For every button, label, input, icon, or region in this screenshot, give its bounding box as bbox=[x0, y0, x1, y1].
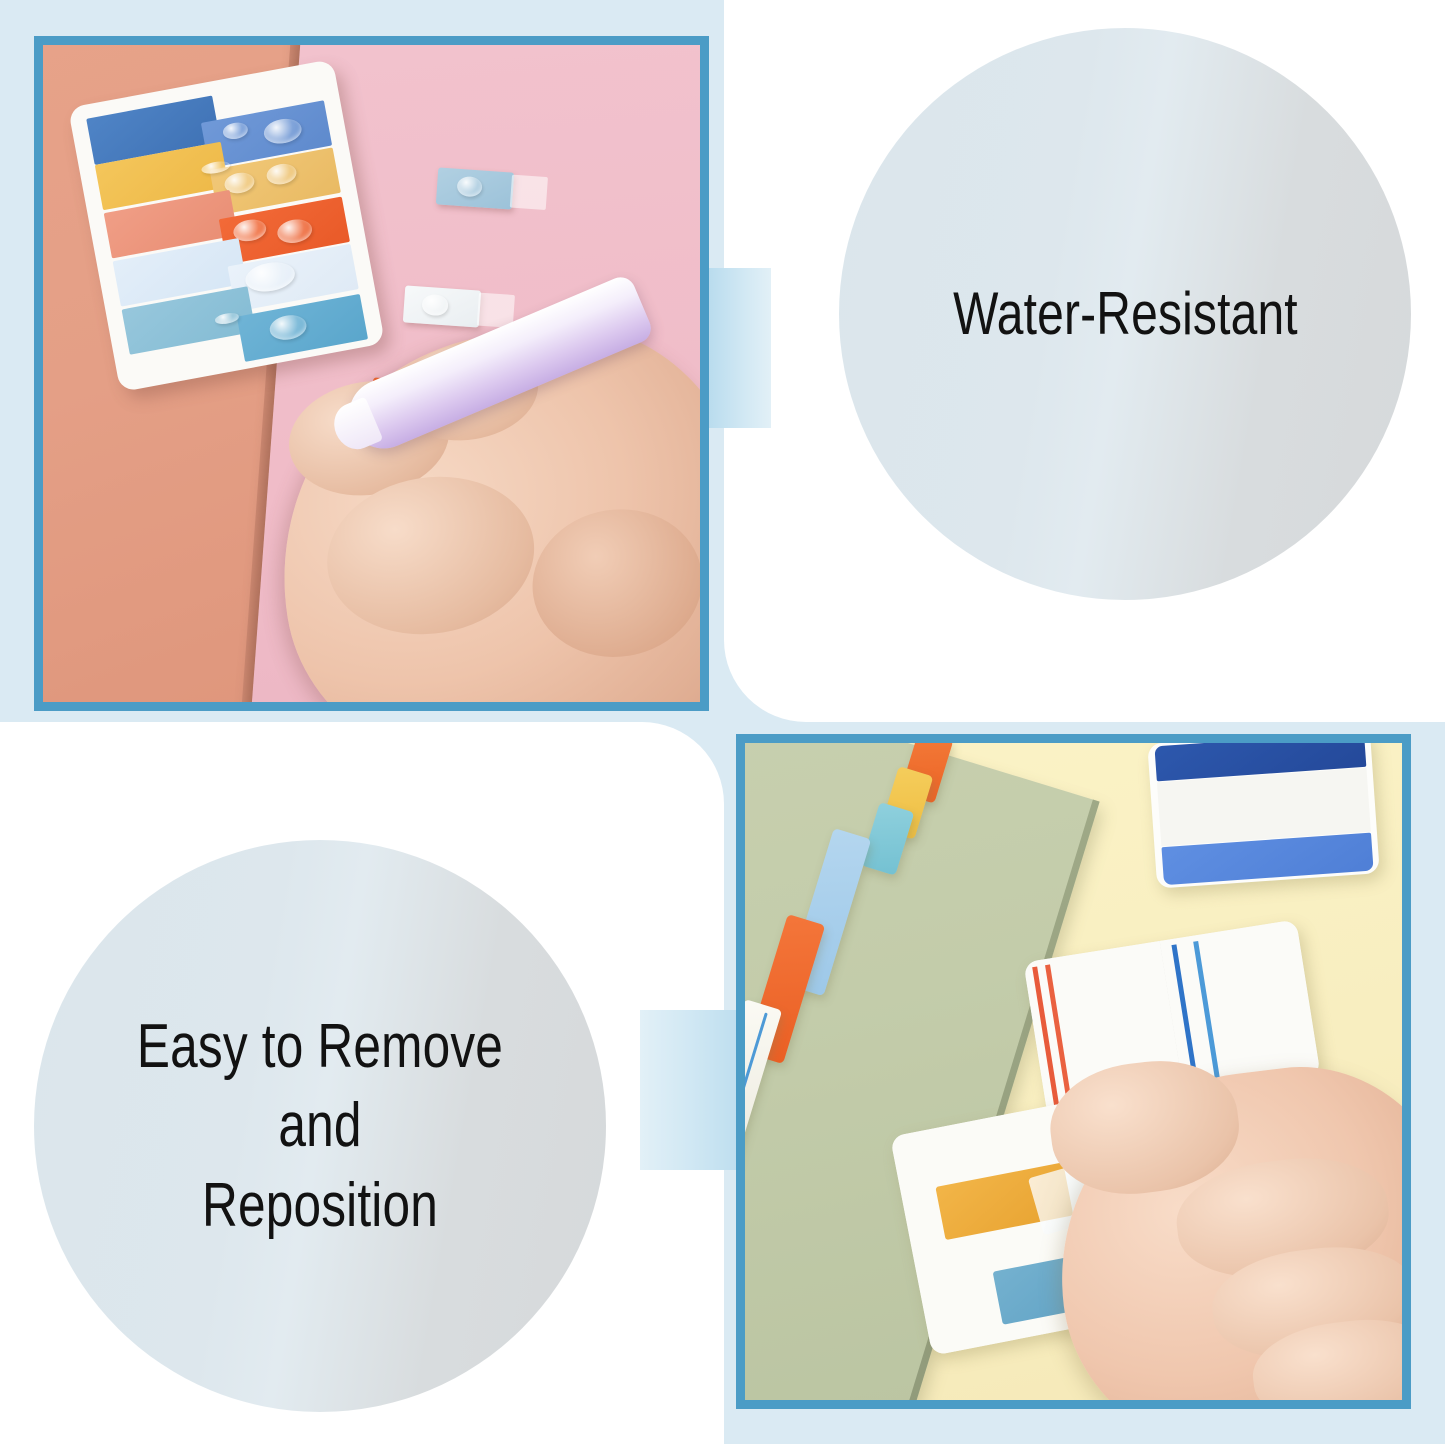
infographic-canvas: water proof Water-Resistant Easy to Remo… bbox=[0, 0, 1445, 1444]
photo-peeling-scene bbox=[745, 743, 1402, 1400]
photo-peeling-tab bbox=[736, 734, 1411, 1409]
tab-stripe bbox=[1045, 965, 1072, 1109]
tab-card-blue bbox=[1148, 734, 1381, 889]
tab-clear-tail bbox=[510, 175, 548, 210]
connector-tab-top bbox=[709, 268, 771, 428]
feature-label-water-resistant: Water-Resistant bbox=[948, 276, 1302, 353]
hand bbox=[1039, 1048, 1411, 1409]
knuckle bbox=[521, 497, 709, 669]
connector-tab-bottom bbox=[640, 1010, 750, 1170]
photo-writing-on-tab: water proof bbox=[34, 36, 709, 711]
feature-badge-easy-remove: Easy to Remove and Reposition bbox=[34, 840, 606, 1412]
index-tab-sheet bbox=[68, 59, 386, 392]
feature-label-easy-remove: Easy to Remove and Reposition bbox=[91, 1007, 549, 1245]
water-droplet bbox=[422, 294, 449, 316]
edge-tab-light-blue bbox=[436, 167, 514, 209]
edge-tab-clear bbox=[403, 285, 481, 327]
water-droplet bbox=[456, 175, 483, 197]
feature-badge-water-resistant: Water-Resistant bbox=[839, 28, 1411, 600]
tab-stripe bbox=[1193, 941, 1220, 1085]
photo-writing-scene: water proof bbox=[43, 45, 700, 702]
water-droplet bbox=[268, 313, 309, 344]
